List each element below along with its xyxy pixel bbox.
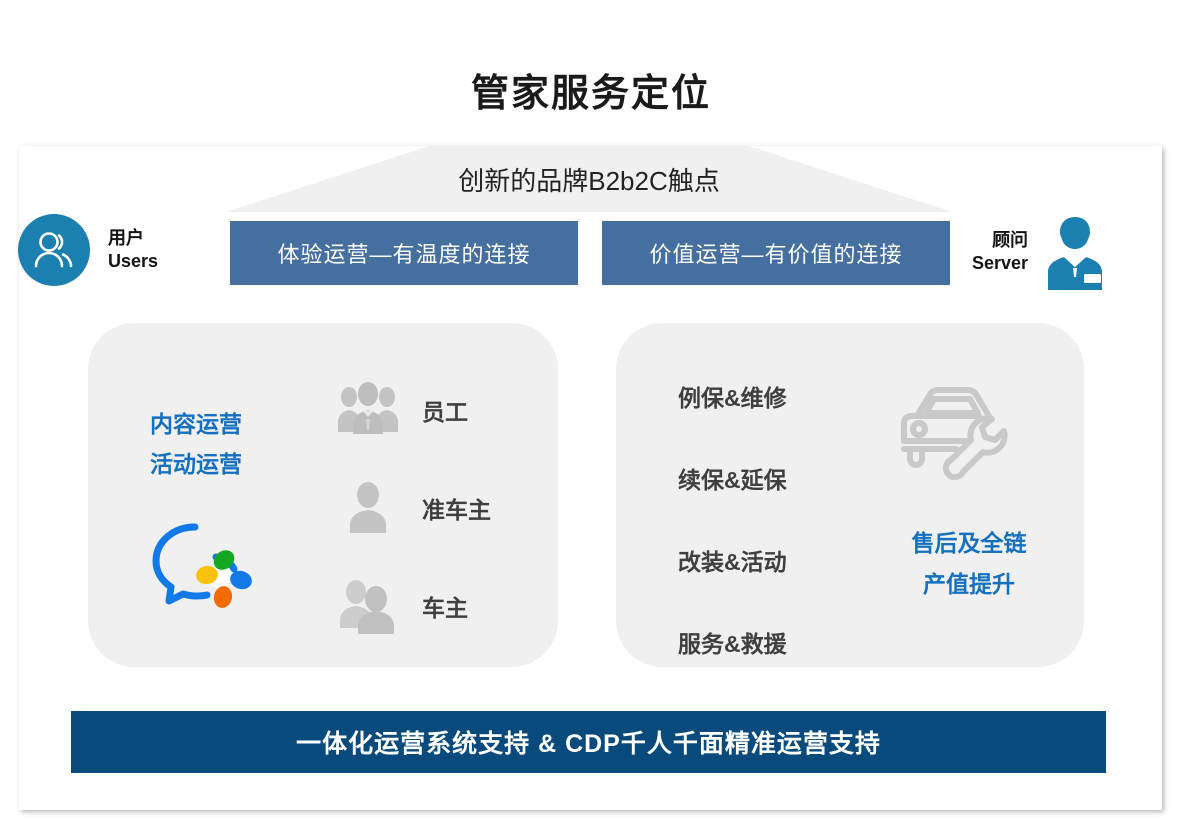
list-item: 准车主 [336, 459, 546, 557]
list-item: 车主 [336, 557, 546, 655]
endpoint-server-label: 顾问 Server [972, 229, 1028, 276]
endpoint-server-label-cn: 顾问 [972, 229, 1028, 252]
list-item: 例保&维修 [678, 355, 868, 437]
persona-label: 准车主 [422, 491, 491, 525]
persona-label: 员工 [422, 393, 468, 427]
right-card-highlight-line2: 产值提升 [874, 564, 1064, 605]
banner: 创新的品牌B2b2C触点 [226, 146, 952, 212]
endpoint-users-label-en: Users [108, 250, 158, 273]
headline-box-experience[interactable]: 体验运营—有温度的连接 [230, 221, 578, 285]
group-three-people-icon [336, 381, 400, 439]
endpoint-users: 用户 Users [18, 214, 158, 286]
persona-label: 车主 [422, 589, 468, 623]
left-card-highlight: 内容运营 活动运营 [150, 405, 242, 484]
banner-text: 创新的品牌B2b2C触点 [226, 146, 952, 212]
left-card-highlight-line1: 内容运营 [150, 405, 242, 445]
list-item: 续保&延保 [678, 437, 868, 519]
right-card-highlight: 售后及全链 产值提升 [874, 523, 1064, 606]
list-item: 服务&救援 [678, 601, 868, 683]
users-circle-icon [18, 214, 90, 286]
endpoint-server-label-en: Server [972, 252, 1028, 275]
right-content-card: 例保&维修 续保&延保 改装&活动 服务&救援 售后及全链 产值提升 [616, 323, 1084, 667]
left-card-highlight-line2: 活动运营 [150, 445, 242, 485]
endpoint-users-label-cn: 用户 [108, 227, 158, 250]
headline-box-value[interactable]: 价值运营—有价值的连接 [602, 221, 950, 285]
two-people-icon [336, 577, 400, 635]
wecom-chat-bubble-icon [146, 517, 258, 623]
left-content-card: 内容运营 活动运营 [88, 323, 558, 667]
bottom-support-bar: 一体化运营系统支持 & CDP千人千面精准运营支持 [71, 711, 1106, 773]
service-list: 例保&维修 续保&延保 改装&活动 服务&救援 [678, 355, 868, 683]
endpoint-server: 顾问 Server [972, 214, 1110, 290]
list-item: 改装&活动 [678, 519, 868, 601]
single-person-icon [336, 479, 400, 537]
page-title: 管家服务定位 [0, 62, 1182, 117]
list-item: 员工 [336, 361, 546, 459]
right-card-highlight-line1: 售后及全链 [874, 523, 1064, 564]
persona-list: 员工 准车主 车主 [336, 361, 546, 655]
endpoint-users-label: 用户 Users [108, 227, 158, 274]
consultant-person-icon [1040, 214, 1110, 290]
car-wrench-icon [888, 371, 1016, 489]
